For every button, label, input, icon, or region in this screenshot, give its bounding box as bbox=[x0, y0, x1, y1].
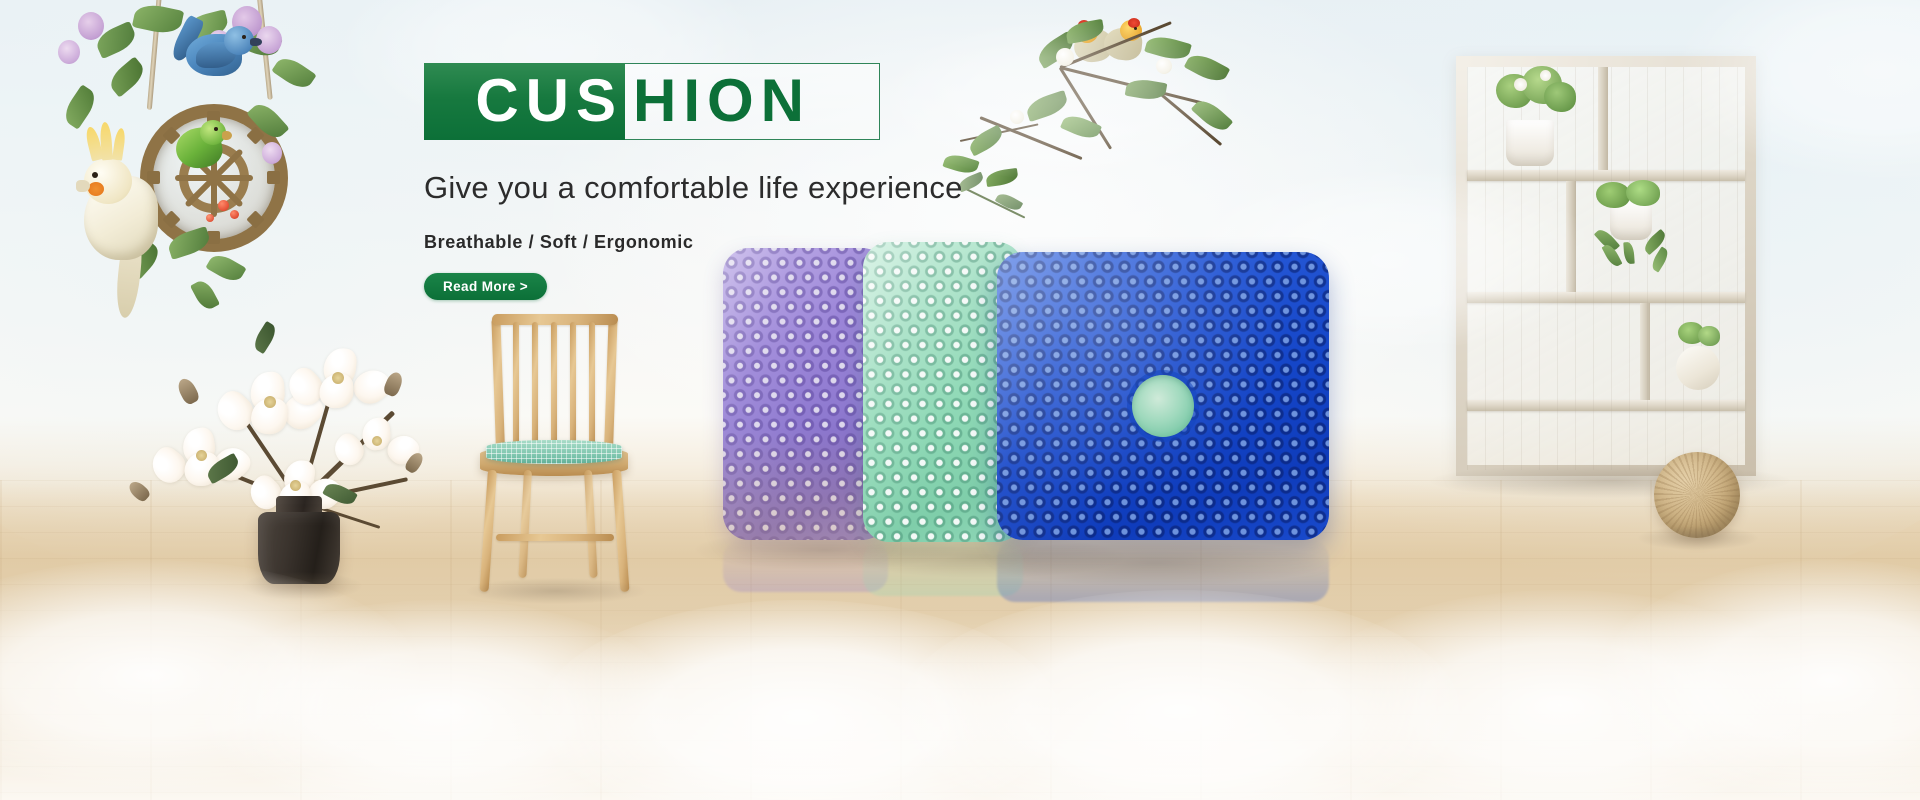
shelf-divider bbox=[1598, 67, 1608, 170]
vase bbox=[258, 512, 340, 584]
magnolia-flower bbox=[230, 366, 310, 440]
cockatiel-cheek-patch bbox=[88, 182, 104, 196]
floor-sheen bbox=[0, 560, 1920, 800]
flower-center bbox=[196, 450, 207, 461]
wheel-cog-tooth bbox=[147, 171, 160, 184]
lilac-blossom bbox=[78, 12, 104, 40]
chair-spindle bbox=[551, 322, 557, 454]
leaf bbox=[1125, 77, 1168, 103]
small-white-flower bbox=[1156, 58, 1172, 74]
petal bbox=[322, 347, 358, 388]
title-plain-block: HION bbox=[625, 63, 880, 140]
magnolia-bud bbox=[382, 370, 405, 398]
cockatiel-eye-icon bbox=[92, 172, 98, 178]
leaf bbox=[190, 278, 220, 313]
rope-left bbox=[147, 0, 162, 110]
lovebird-eye-icon bbox=[1134, 27, 1137, 30]
petal bbox=[180, 426, 218, 467]
wheel-cog-tooth bbox=[246, 126, 264, 144]
leaf bbox=[1184, 49, 1230, 86]
chair-spindle bbox=[532, 322, 538, 454]
rope-right bbox=[256, 0, 272, 100]
chair-spindle bbox=[513, 322, 519, 454]
chair-spindle bbox=[570, 322, 576, 454]
wicker-ball bbox=[1654, 452, 1740, 538]
blue-jay-beak-icon bbox=[250, 38, 262, 46]
shelf-divider bbox=[1566, 181, 1576, 292]
shelf-divider bbox=[1640, 303, 1650, 400]
lilac-blossom bbox=[58, 40, 80, 64]
plant-pot bbox=[1610, 200, 1652, 240]
magnolia-flower bbox=[300, 344, 380, 418]
petal bbox=[250, 397, 288, 435]
parrot-beak-icon bbox=[222, 131, 232, 140]
small-white-flower bbox=[1010, 110, 1024, 124]
cockatiel-beak-icon bbox=[76, 180, 90, 192]
read-more-button[interactable]: Read More > bbox=[424, 273, 547, 300]
petal bbox=[281, 363, 329, 411]
banner-text-block: CUS HION Give you a comfortable life exp… bbox=[424, 63, 984, 300]
chair-stretcher bbox=[496, 534, 614, 541]
leaf bbox=[985, 168, 1019, 187]
leaf bbox=[1060, 111, 1102, 143]
chair-spindle bbox=[589, 322, 595, 454]
leaf bbox=[105, 56, 148, 97]
shelf-board bbox=[1467, 400, 1745, 411]
leaf bbox=[93, 21, 139, 59]
leaf bbox=[1144, 32, 1192, 63]
chair-seat-cushion bbox=[486, 440, 622, 464]
round-pot bbox=[1676, 346, 1720, 390]
magnolia-bud bbox=[175, 376, 201, 406]
leaf bbox=[271, 53, 316, 94]
shelf-board bbox=[1467, 170, 1745, 181]
petal bbox=[319, 373, 354, 408]
magnolia-bud bbox=[403, 450, 426, 475]
page-title: CUS HION bbox=[424, 63, 880, 140]
wheel-cog-tooth bbox=[246, 210, 264, 228]
cushion-center-hole bbox=[1132, 375, 1194, 437]
title-highlight-block: CUS bbox=[424, 63, 625, 140]
leaf bbox=[251, 321, 280, 354]
shelf-board bbox=[1467, 292, 1745, 303]
title-part-plain: HION bbox=[625, 71, 811, 131]
banner-tagline: Breathable / Soft / Ergonomic bbox=[424, 232, 984, 253]
leaf bbox=[205, 250, 246, 285]
plant-pot bbox=[1506, 120, 1554, 166]
wheel-cog-tooth bbox=[267, 171, 280, 184]
lovebird-body-right bbox=[1102, 26, 1143, 62]
flower-center bbox=[332, 372, 344, 384]
cockatiel-crest bbox=[112, 128, 126, 161]
parrot-eye-icon bbox=[214, 127, 218, 131]
title-part-highlight: CUS bbox=[475, 71, 625, 131]
cushion-promo-banner: CUS HION Give you a comfortable life exp… bbox=[0, 0, 1920, 800]
flower-center bbox=[372, 436, 382, 446]
wheel-cog-tooth bbox=[207, 231, 220, 244]
flower-center bbox=[264, 396, 276, 408]
banner-subtitle: Give you a comfortable life experience bbox=[424, 170, 984, 206]
leaf bbox=[60, 84, 101, 129]
blue-jay-eye-icon bbox=[242, 35, 246, 39]
leaf bbox=[1191, 95, 1233, 136]
honeycomb-gel-cushion-blue[interactable] bbox=[997, 252, 1329, 540]
leaf bbox=[1024, 90, 1070, 122]
petal bbox=[249, 371, 286, 413]
wheel-cog-tooth bbox=[162, 210, 180, 228]
cockatiel-head bbox=[84, 158, 132, 204]
cockatiel-crest bbox=[99, 122, 113, 161]
